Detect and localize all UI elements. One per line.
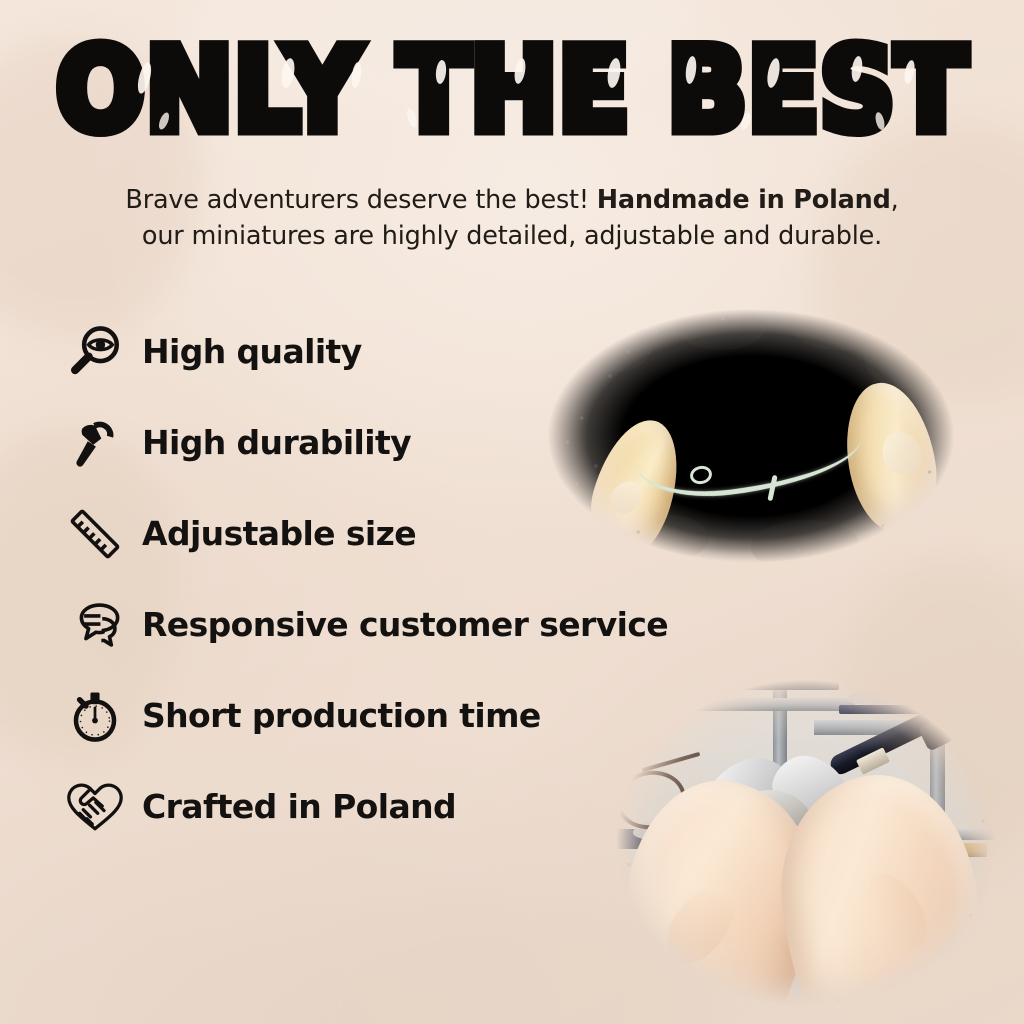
heart-handshake-icon [62,774,128,840]
feature-label: High durability [142,423,411,462]
ruler-icon [62,501,128,567]
feature-item: Responsive customer service [62,579,762,670]
photo-torn-mask [516,286,986,586]
feature-label: Crafted in Poland [142,787,456,826]
subtitle: Brave adventurers deserve the best! Hand… [72,182,952,254]
flexible-miniature-photo [516,286,986,586]
photo-torn-mask [600,662,1012,1024]
feature-label: Short production time [142,696,541,735]
workshop-hands-photo [600,662,1012,1024]
title-container: ONLY THE BEST [0,38,1024,142]
feature-label: Adjustable size [142,514,416,553]
stopwatch-icon [62,683,128,749]
speech-bubbles-icon [62,592,128,658]
subtitle-highlight: Handmade in Poland [597,185,891,215]
magnifier-eye-icon [62,319,128,385]
subtitle-line1-lead: Brave adventurers deserve the best! [125,185,596,215]
subtitle-line1-tail: , [891,185,899,215]
hammer-icon [62,410,128,476]
page-title: ONLY THE BEST [56,33,967,147]
subtitle-line2: our miniatures are highly detailed, adju… [142,221,882,251]
photo-edge-speckle [600,662,1012,1024]
feature-label: Responsive customer service [142,605,668,644]
feature-label: High quality [142,332,362,371]
promo-poster: ONLY THE BEST Brave adventurers deserve … [0,0,1024,1024]
photo-edge-speckle [516,286,986,586]
